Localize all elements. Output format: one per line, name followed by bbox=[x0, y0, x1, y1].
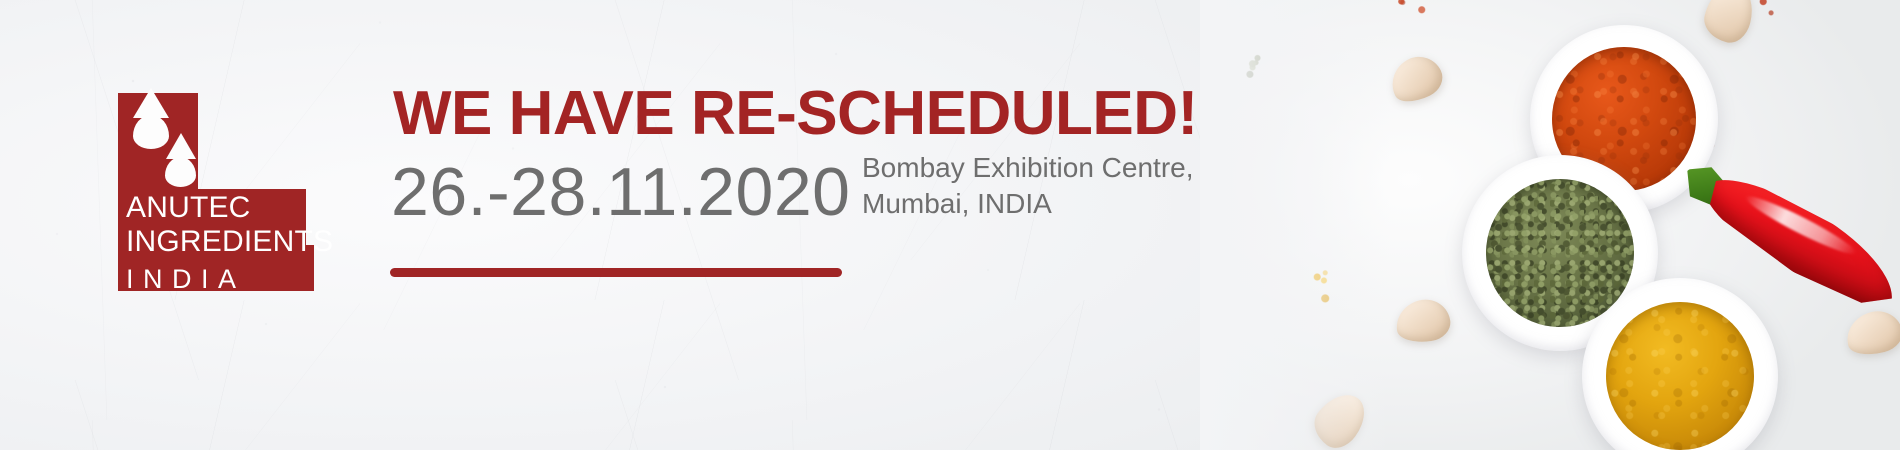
anutec-ingredients-india-logo[interactable]: ANUTEC INGREDIENTS INDIA bbox=[118, 93, 314, 291]
water-droplet-icon bbox=[133, 115, 169, 149]
date-underline-rule bbox=[390, 268, 842, 277]
logo-wordmark: ANUTEC INGREDIENTS INDIA bbox=[126, 191, 318, 296]
event-date-text: 26.-28.11.2020 bbox=[391, 153, 850, 231]
venue-line-1: Bombay Exhibition Centre, bbox=[862, 150, 1194, 186]
headline-text: WE HAVE RE-SCHEDULED! bbox=[393, 78, 1198, 149]
scattered-paprika-powder bbox=[1756, 0, 1900, 122]
venue-line-2: Mumbai, INDIA bbox=[862, 186, 1194, 222]
spices-photo bbox=[1200, 0, 1900, 450]
logo-line-anutec: ANUTEC bbox=[126, 191, 318, 225]
logo-line-ingredients: INGREDIENTS bbox=[126, 225, 318, 259]
anutec-rescheduled-banner: ANUTEC INGREDIENTS INDIA WE HAVE RE-SCHE… bbox=[0, 0, 1900, 450]
water-droplet-icon bbox=[165, 157, 196, 187]
turmeric-grain-texture bbox=[1606, 302, 1754, 450]
logo-line-india: INDIA bbox=[126, 262, 318, 296]
venue-text: Bombay Exhibition Centre, Mumbai, INDIA bbox=[862, 150, 1194, 222]
